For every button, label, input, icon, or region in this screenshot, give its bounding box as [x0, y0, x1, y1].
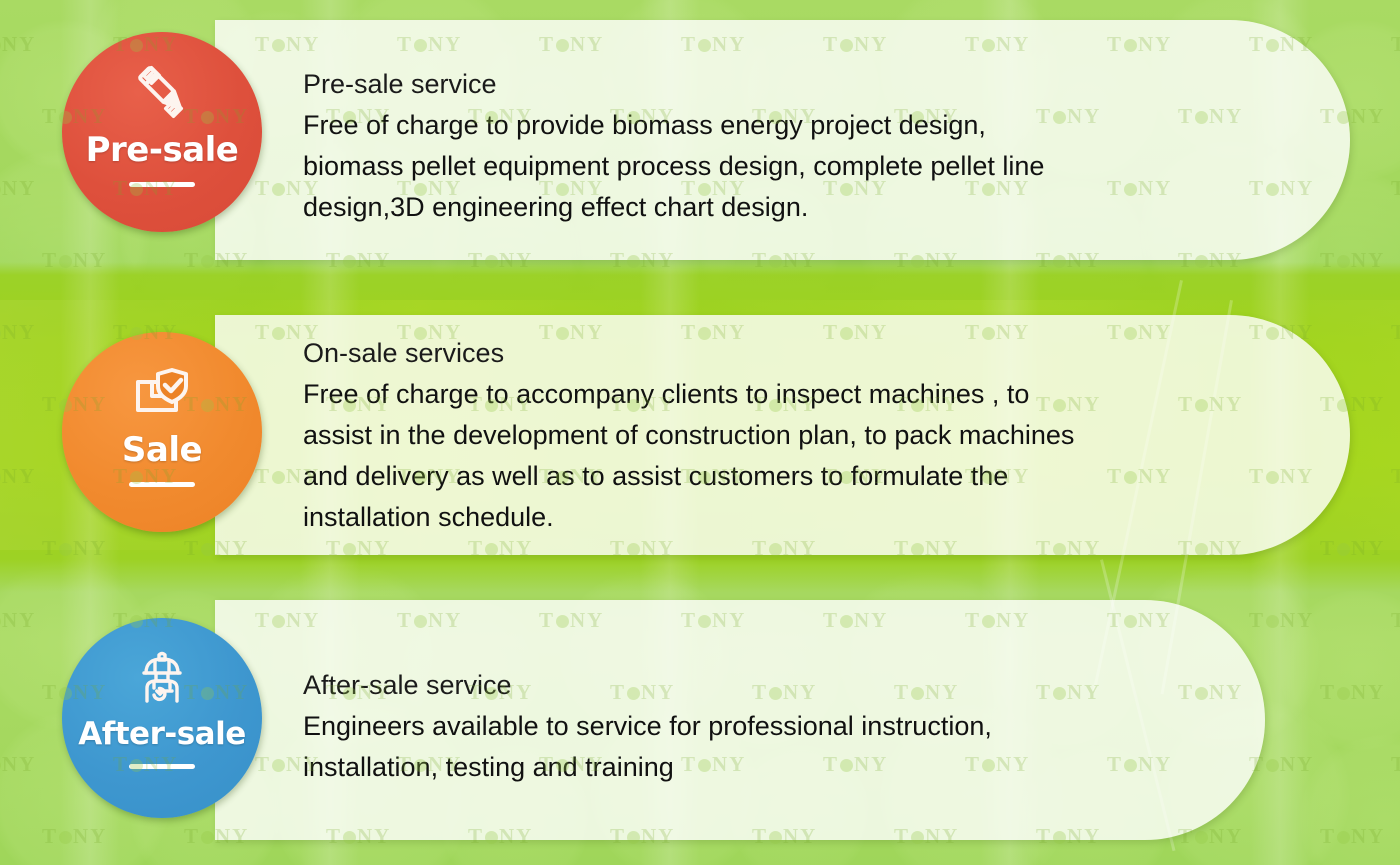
badge-underline: [129, 482, 195, 487]
card-on-sale-text: On-sale services Free of charge to accom…: [303, 333, 1353, 538]
card-body-line: design,3D engineering effect chart desig…: [303, 187, 1333, 228]
pencil-ruler-icon: [123, 56, 201, 128]
card-body-line: Free of charge to provide biomass energy…: [303, 105, 1333, 146]
badge-label: Sale: [122, 430, 202, 470]
card-pre-sale-text: Pre-sale service Free of charge to provi…: [303, 64, 1333, 228]
card-title: Pre-sale service: [303, 64, 1333, 105]
service-poster: Pre-sale service Free of charge to provi…: [0, 0, 1400, 865]
card-body-line: installation, testing and training: [303, 747, 1303, 788]
badge-on-sale: Sale: [62, 332, 262, 532]
card-after-sale-text: After-sale service Engineers available t…: [303, 665, 1303, 788]
badge-after-sale: After-sale: [62, 618, 262, 818]
card-body-line: installation schedule.: [303, 497, 1353, 538]
badge-underline: [129, 764, 195, 769]
badge-label: After-sale: [78, 716, 246, 752]
badge-label: Pre-sale: [86, 130, 239, 170]
card-body-line: and delivery as well as to assist custom…: [303, 456, 1353, 497]
card-body: Free of charge to provide biomass energy…: [303, 105, 1333, 228]
card-title: After-sale service: [303, 665, 1303, 706]
badge-pre-sale: Pre-sale: [62, 32, 262, 232]
card-body-line: assist in the development of constructio…: [303, 415, 1353, 456]
badge-underline: [129, 182, 195, 187]
card-title: On-sale services: [303, 333, 1353, 374]
card-body-line: Free of charge to accompany clients to i…: [303, 374, 1353, 415]
card-body: Free of charge to accompany clients to i…: [303, 374, 1353, 538]
package-shield-check-icon: [123, 356, 201, 428]
card-body: Engineers available to service for profe…: [303, 706, 1303, 788]
card-body-line: biomass pellet equipment process design,…: [303, 146, 1333, 187]
worker-helmet-wrench-icon: [123, 642, 201, 714]
card-body-line: Engineers available to service for profe…: [303, 706, 1303, 747]
